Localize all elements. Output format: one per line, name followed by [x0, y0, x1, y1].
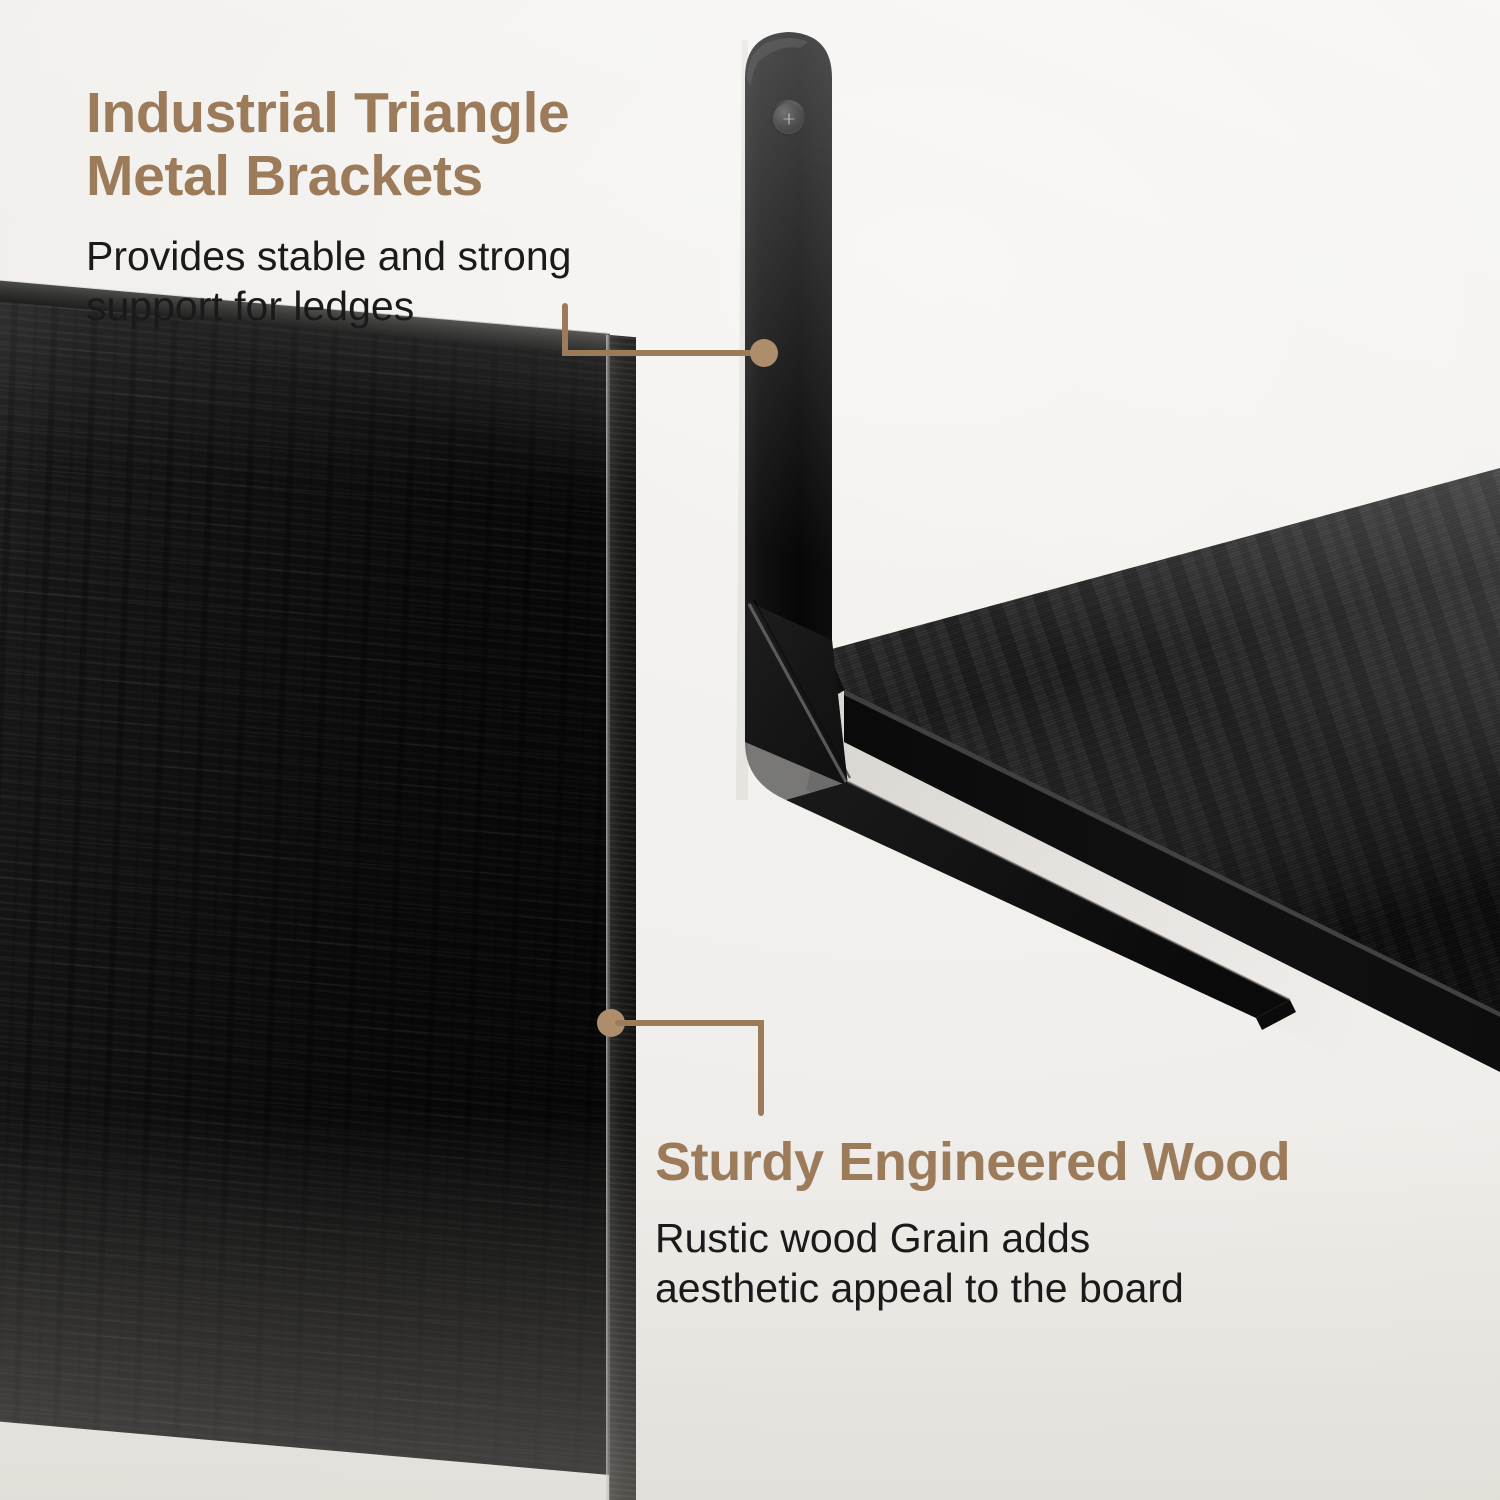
- mounting-screw-icon: [773, 103, 804, 134]
- callout-wood-subline: Rustic wood Grain adds aesthetic appeal …: [655, 1214, 1455, 1312]
- product-feature-image: Industrial Triangle Metal Brackets Provi…: [0, 0, 1500, 1500]
- screw-slot-icon: [783, 113, 794, 124]
- bracket-corner-plate: [745, 600, 848, 800]
- callout-brackets: Industrial Triangle Metal Brackets Provi…: [86, 82, 746, 331]
- bracket-arm-highlight: [848, 782, 1290, 1000]
- callout-wood: Sturdy Engineered Wood Rustic wood Grain…: [655, 1133, 1455, 1313]
- bracket-horizontal-arm: [786, 782, 1290, 1018]
- callout-brackets-subline: Provides stable and strong support for l…: [86, 232, 746, 330]
- callout-brackets-headline: Industrial Triangle Metal Brackets: [86, 82, 746, 207]
- callout-wood-headline: Sturdy Engineered Wood: [655, 1133, 1455, 1192]
